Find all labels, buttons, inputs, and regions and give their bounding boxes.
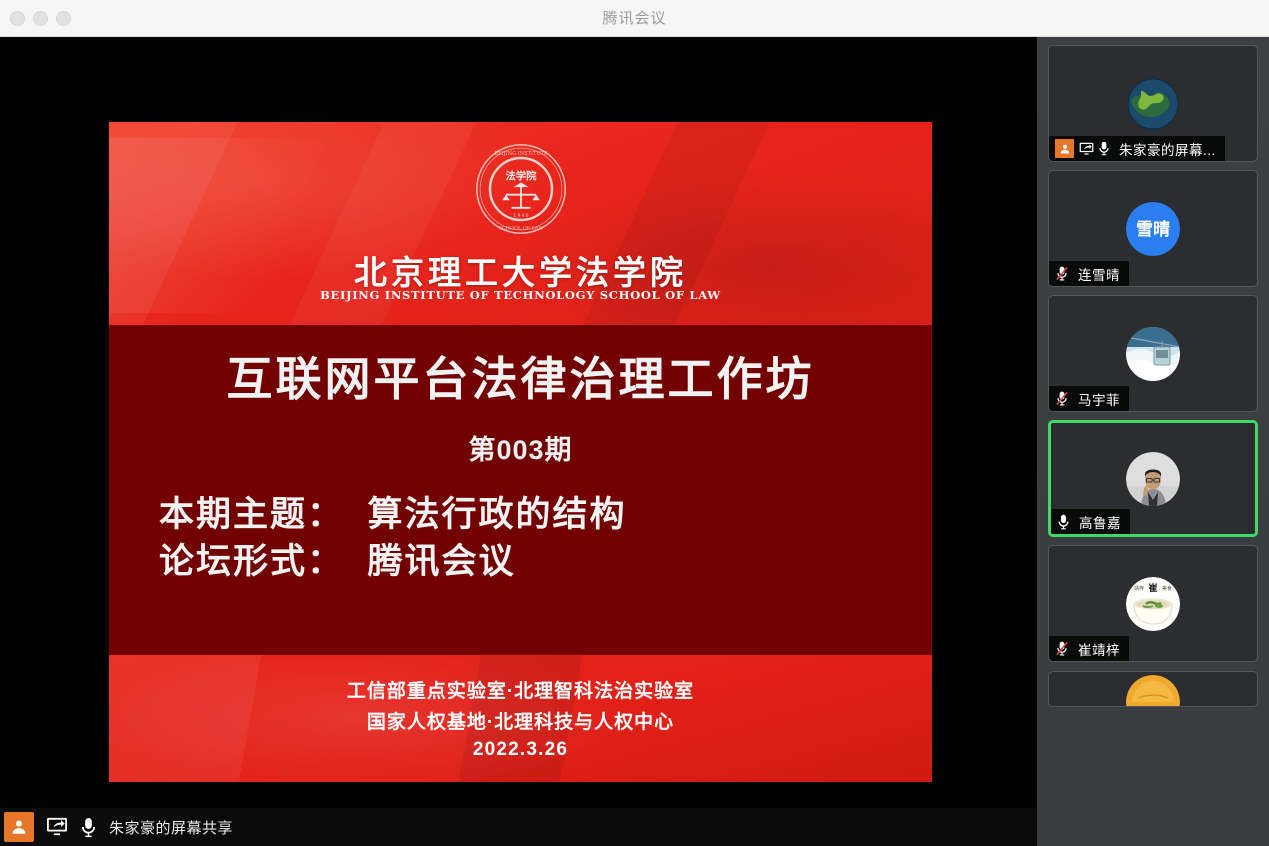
titlebar: 腾讯会议 [0, 0, 1269, 37]
slide-footer-date: 2022.3.26 [109, 734, 932, 761]
participant-name: 连雪晴 [1078, 264, 1120, 284]
slide-topic-line: 本期主题： 算法行政的结构 [159, 491, 626, 538]
avatar [1126, 327, 1180, 381]
microphone-muted-icon [1055, 641, 1069, 656]
screen-share-icon [46, 817, 68, 837]
svg-text:BEIJING INSTITUTE: BEIJING INSTITUTE [494, 151, 548, 157]
svg-text:法学院: 法学院 [505, 170, 537, 183]
slide-footer-band: 工信部重点实验室·北理智科法治实验室 国家人权基地·北理科技与人权中心 2022… [109, 655, 932, 782]
host-badge-icon [1055, 139, 1074, 158]
shared-screen-stage[interactable]: BEIJING INSTITUTE SCHOOL OF LAW 法学院 [0, 37, 1037, 846]
participant-tile[interactable]: 马宇菲 [1048, 295, 1258, 412]
microphone-muted-icon [1055, 266, 1069, 281]
avatar [1126, 452, 1180, 506]
person-icon [4, 812, 34, 842]
slide-title: 互联网平台法律治理工作坊 [109, 343, 932, 409]
earth-avatar-icon [1126, 77, 1180, 131]
microphone-icon [1098, 141, 1110, 156]
avatar [1126, 77, 1180, 131]
avatar [1126, 675, 1180, 707]
svg-text:崔: 崔 [1147, 582, 1157, 594]
avatar: 雪晴 [1126, 202, 1180, 256]
svg-text:美食: 美食 [1162, 585, 1172, 592]
svg-text:SCHOOL OF LAW: SCHOOL OF LAW [498, 225, 543, 231]
person-photo-avatar-icon [1126, 452, 1180, 506]
seal-wrap: BEIJING INSTITUTE SCHOOL OF LAW 法学院 [109, 142, 932, 236]
participant-namebar: 崔靖梓 [1049, 636, 1129, 661]
slide-issue-number: 第003期 [109, 428, 932, 467]
share-status-label: 朱家豪的屏幕共享 [109, 817, 233, 838]
participant-tile[interactable]: 雪晴 连雪晴 [1048, 170, 1258, 287]
school-name-en: BEIJING INSTITUTE OF TECHNOLOGY SCHOOL O… [109, 288, 932, 302]
avatar-initials: 雪晴 [1136, 220, 1170, 239]
participant-tile[interactable]: 朱家豪的屏幕... [1048, 45, 1258, 162]
microphone-icon [80, 817, 97, 838]
soupbowl-avatar-icon: 崔 靖梓 美食 [1126, 577, 1180, 631]
orange-avatar-icon [1126, 675, 1180, 707]
cablecar-avatar-icon [1126, 327, 1180, 381]
microphone-muted-icon [1055, 391, 1069, 406]
meeting-window: 腾讯会议 BEIJING INSTITUTE SCHOOL OF LAW [0, 0, 1269, 846]
school-name-cn: 北京理工大学法学院 [109, 246, 932, 294]
microphone-icon [1057, 514, 1070, 530]
law-school-seal-icon: BEIJING INSTITUTE SCHOOL OF LAW 法学院 [474, 142, 568, 236]
svg-text:靖梓: 靖梓 [1134, 585, 1144, 592]
avatar: 崔 靖梓 美食 [1126, 577, 1180, 631]
participant-tile[interactable]: 崔 靖梓 美食 [1048, 545, 1258, 662]
presentation-slide: BEIJING INSTITUTE SCHOOL OF LAW 法学院 [109, 122, 932, 782]
slide-format-line: 论坛形式： 腾讯会议 [159, 538, 626, 585]
participant-namebar: 朱家豪的屏幕... [1049, 136, 1225, 161]
participant-tile-partial[interactable] [1048, 671, 1258, 707]
initials-avatar-icon: 雪晴 [1126, 202, 1180, 256]
slide-footer-line-1: 工信部重点实验室·北理智科法治实验室 [109, 655, 932, 703]
svg-text:1 9 4 0: 1 9 4 0 [513, 214, 528, 219]
slide-body: 互联网平台法律治理工作坊 第003期 本期主题： 算法行政的结构 论坛形式： 腾… [109, 325, 932, 655]
slide-detail-lines: 本期主题： 算法行政的结构 论坛形式： 腾讯会议 [159, 491, 626, 585]
slide-footer-line-2: 国家人权基地·北理科技与人权中心 [109, 703, 932, 734]
screen-share-icon [1079, 142, 1094, 156]
participant-name: 崔靖梓 [1078, 639, 1120, 659]
participant-namebar: 连雪晴 [1049, 261, 1129, 286]
participant-name: 马宇菲 [1078, 389, 1120, 409]
participant-namebar: 马宇菲 [1049, 386, 1129, 411]
participant-namebar: 高鲁嘉 [1051, 509, 1130, 534]
slide-header-band: BEIJING INSTITUTE SCHOOL OF LAW 法学院 [109, 122, 932, 325]
window-title: 腾讯会议 [0, 0, 1269, 37]
participant-name: 高鲁嘉 [1079, 512, 1121, 532]
participant-name: 朱家豪的屏幕... [1119, 139, 1216, 159]
participant-tile-active-speaker[interactable]: 高鲁嘉 [1048, 420, 1258, 537]
participant-rail[interactable]: 朱家豪的屏幕... 雪晴 [1037, 37, 1269, 846]
share-statusbar: 朱家豪的屏幕共享 [0, 808, 1037, 846]
